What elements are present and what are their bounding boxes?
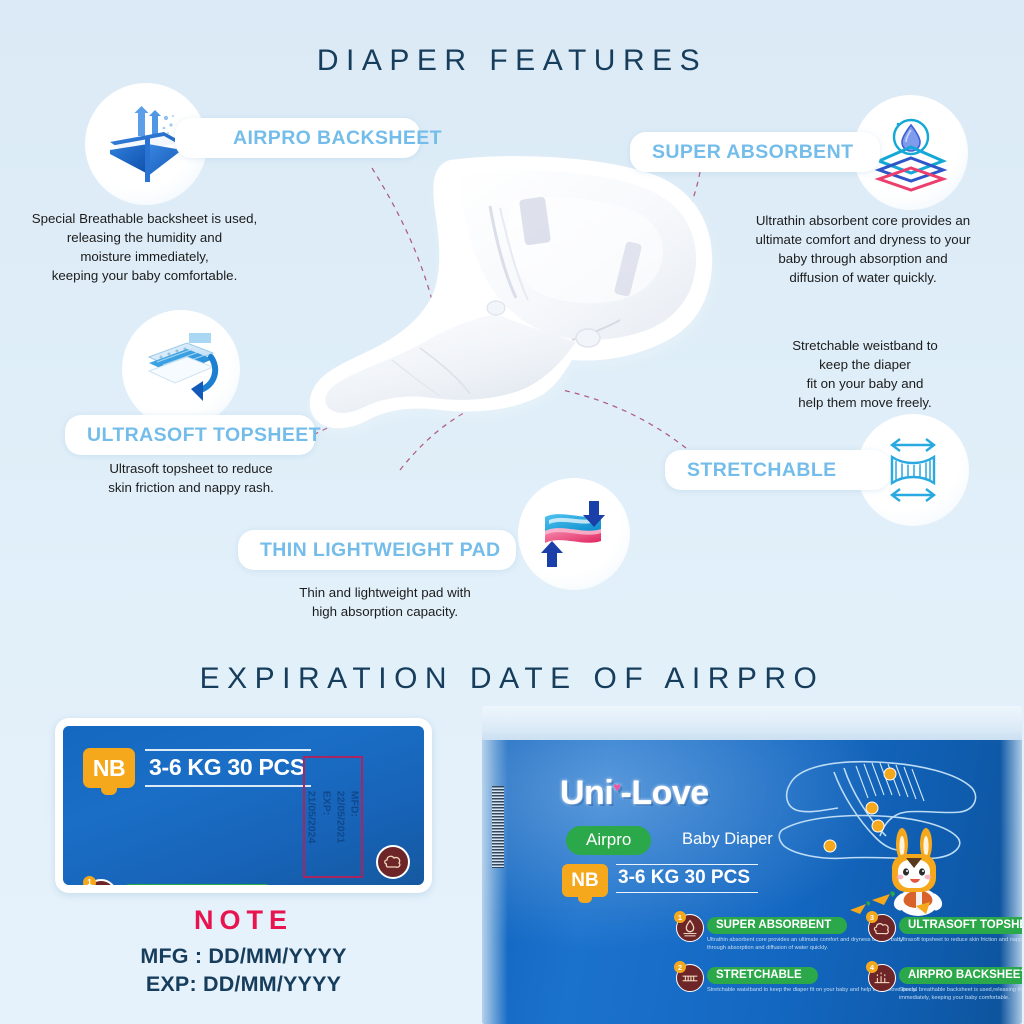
- package-line-badge: Airpro: [566, 826, 651, 855]
- package-brand-text: Uni♥-Love: [560, 774, 709, 812]
- label-feature-label: SUPER ABSORBENT: [121, 884, 274, 885]
- expiry-stamp-highlight-box: MFD: 22/05/2021 EXP: 21/05/2024: [303, 756, 363, 878]
- bunny-mascot-icon: [842, 824, 962, 920]
- feature-label-text: THIN LIGHTWEIGHT PAD: [260, 539, 501, 562]
- package-feature-label: ULTRASOFT TOPSHEET: [899, 917, 1022, 934]
- package-feature-label: AIRPRO BACKSHEET: [899, 967, 1022, 984]
- cotton-soft-icon: [870, 916, 894, 940]
- feature-label-text: AIRPRO BACKSHEET: [233, 127, 442, 150]
- page-title-expiration-date: EXPIRATION DATE OF AIRPRO: [0, 662, 1024, 696]
- package-feature-label: SUPER ABSORBENT: [707, 917, 847, 934]
- note-mfg-line: MFG : DD/MM/YYYY: [55, 944, 432, 969]
- package-feature-coin-icon: 3: [868, 914, 896, 942]
- package-product-type: Baby Diaper: [682, 830, 773, 849]
- feature-label-text: ULTRASOFT TOPSHEET: [87, 424, 321, 447]
- absorbent-drop-icon: [88, 882, 114, 885]
- feature-label-super-absorbent[interactable]: SUPER ABSORBENT: [630, 132, 880, 172]
- stretch-band-icon: [678, 966, 702, 990]
- feature-label-ultrasoft-topsheet[interactable]: ULTRASOFT TOPSHEET: [65, 415, 315, 455]
- feature-label-thin-lightweight-pad[interactable]: THIN LIGHTWEIGHT PAD: [238, 530, 516, 570]
- cotton-soft-icon: [380, 849, 406, 875]
- feature-label-text: SUPER ABSORBENT: [652, 141, 853, 164]
- feature-label-text: STRETCHABLE: [687, 459, 837, 482]
- expiry-stamp-text: MFD: 22/05/2021 EXP: 21/05/2024: [305, 791, 362, 844]
- package-size-text: 3-6 KG 30 PCS: [616, 864, 758, 893]
- water-drop-layers-icon: [871, 113, 951, 193]
- package-label-closeup: NB 3-6 KG 30 PCS MFD: 22/05/2021 EXP: 21…: [63, 726, 424, 885]
- breathable-sheet-icon: [870, 966, 894, 990]
- feature-description-stretchable: Stretchable weistband to keep the diaper…: [740, 337, 990, 413]
- note-exp-line: EXP: DD/MM/YYYY: [55, 972, 432, 997]
- feature-description-airpro-backsheet: Special Breathable backsheet is used, re…: [12, 210, 277, 286]
- feature-description-ultrasoft-topsheet: Ultrasoft topsheet to reduce skin fricti…: [62, 460, 320, 498]
- absorbent-drop-icon: [678, 916, 702, 940]
- package-line-badge-text: Airpro: [586, 830, 631, 849]
- label-size-badge-text: NB: [93, 755, 125, 782]
- page-title-diaper-features: DIAPER FEATURES: [0, 44, 1024, 78]
- soft-layers-arrow-icon: [141, 329, 221, 409]
- package-feature-coin-icon: 2: [676, 964, 704, 992]
- label-feature-coin-icon: 1: [85, 879, 117, 885]
- package-barcode: [492, 786, 504, 868]
- icon-bubble-ultrasoft-topsheet: [122, 310, 240, 428]
- feature-description-thin-lightweight-pad: Thin and lightweight pad with high absor…: [255, 584, 515, 622]
- label-size-badge: NB: [83, 748, 135, 788]
- icon-bubble-thin-lightweight-pad: [518, 478, 630, 590]
- product-package-photo: Uni♥-Love Airpro Baby Diaper NB 3-6 KG 3…: [482, 706, 1022, 1024]
- package-feature-sub: Ultrasoft topsheet to reduce skin fricti…: [899, 937, 1022, 945]
- label-feature-coin-icon-secondary: [376, 845, 410, 879]
- package-feature-label: STRETCHABLE: [707, 967, 818, 984]
- note-heading: NOTE: [55, 905, 432, 936]
- package-feature-coin-icon: 4: [868, 964, 896, 992]
- diaper-product-photo: [300, 148, 730, 468]
- feature-label-stretchable[interactable]: STRETCHABLE: [665, 450, 890, 490]
- feature-description-super-absorbent: Ultrathin absorbent core provides an ult…: [722, 212, 1004, 288]
- thin-pad-arrows-icon: [535, 495, 613, 573]
- package-size-badge-text: NB: [571, 870, 598, 892]
- package-left-edge: [482, 740, 508, 1024]
- package-label-closeup-card: NB 3-6 KG 30 PCS MFD: 22/05/2021 EXP: 21…: [55, 718, 432, 893]
- infographic-page: DIAPER FEATURES: [0, 0, 1024, 1024]
- label-size-text: 3-6 KG 30 PCS: [145, 749, 311, 787]
- package-size-badge: NB: [562, 864, 608, 897]
- feature-label-airpro-backsheet[interactable]: AIRPRO BACKSHEET: [175, 118, 420, 158]
- package-feature-sub: Special breathable backsheet is used,rel…: [899, 987, 1022, 1003]
- package-feature-coin-icon: 1: [676, 914, 704, 942]
- package-brand-name: Uni♥-Love: [560, 774, 709, 813]
